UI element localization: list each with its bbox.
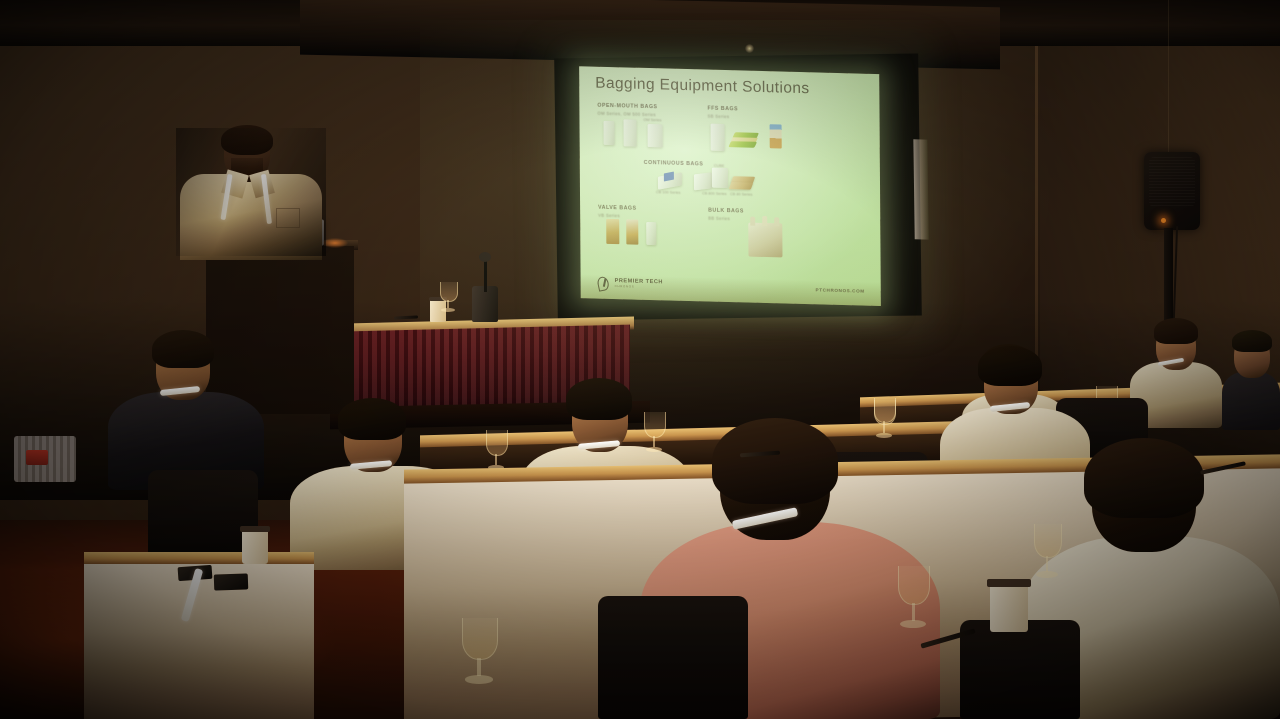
microphone-stand (484, 258, 487, 292)
presenter (176, 128, 326, 256)
section-heading: VALVE BAGS (598, 205, 637, 212)
audience-torso (1222, 372, 1280, 430)
wine-glass (462, 618, 496, 684)
glass-bowl (898, 566, 930, 605)
audience-member (108, 330, 264, 490)
projection-screen: Bagging Equipment Solutions OPEN-MOUTH B… (554, 53, 922, 320)
product-caption: CUBE (714, 164, 725, 168)
product-bag-valve-3 (646, 222, 656, 245)
glass-bowl (486, 430, 508, 456)
audience-hair (1232, 330, 1272, 352)
product-bag-kraft-2 (729, 182, 754, 190)
audience-hair (566, 378, 632, 420)
audience-hair (338, 398, 406, 440)
product-bag-valve-1 (606, 219, 619, 244)
section-subheading: SB Series (707, 114, 738, 120)
section-subheading: OM Series, OM 500 Series (597, 111, 657, 118)
speaker-grille-icon (1149, 157, 1195, 207)
product-caption: CB 80 Series (730, 192, 752, 197)
glass-bowl (462, 618, 498, 660)
screen-fold-crease (913, 139, 928, 239)
flight-case-label (26, 450, 48, 465)
glass-stem (477, 658, 480, 676)
product-bag-openmouth-2 (623, 119, 636, 146)
wine-glass (1034, 524, 1060, 578)
bulk-bag-loop-2 (762, 216, 767, 226)
slide-section-open-mouth-bags: OPEN-MOUTH BAGS OM Series, OM 500 Series (597, 103, 657, 118)
product-bag-valve-2 (626, 219, 638, 244)
slide-section-ffs-bags: FFS BAGS SB Series (707, 106, 738, 120)
ceiling-light-icon (745, 44, 754, 53)
product-bag-stack-green-2 (728, 141, 757, 148)
audience-hair (152, 330, 214, 368)
audience-hair (1084, 438, 1204, 518)
coffee-cup (990, 584, 1028, 632)
side-table-surface (84, 552, 314, 564)
product-bag-openmouth-3 (648, 124, 663, 147)
section-heading: FFS BAGS (707, 106, 738, 113)
glass-foot (441, 308, 454, 312)
product-bag-continuous-2 (694, 172, 712, 190)
glass-foot (465, 675, 494, 684)
slide-section-continuous-bags: CONTINUOUS BAGS (644, 160, 704, 168)
section-subheading: VB Series (598, 213, 637, 219)
audience-hair (712, 418, 838, 504)
wine-glass (440, 282, 456, 312)
slide-section-valve-bags: VALVE BAGS VB Series (598, 205, 637, 219)
coffee-cup-lid (240, 526, 270, 532)
glass-foot (1036, 571, 1058, 578)
product-caption: CB 800 Series (702, 191, 727, 196)
product-caption: OM Series (643, 118, 661, 122)
coffee-cup-lid (987, 579, 1031, 587)
glass-stem (1046, 556, 1049, 571)
presenter-shading (176, 128, 326, 256)
section-heading: BULK BAGS (708, 208, 744, 215)
audience-hair (978, 346, 1042, 386)
speaker-suspension-wire (1168, 0, 1169, 160)
section-heading: OPEN-MOUTH BAGS (597, 103, 657, 111)
glass-stem (912, 603, 915, 620)
section-heading: CONTINUOUS BAGS (644, 160, 704, 168)
glass-bowl (440, 282, 458, 302)
product-bag-ffs-1 (711, 124, 725, 151)
slide-section-bulk-bags: BULK BAGS BB Series (708, 208, 744, 222)
bulk-bag-loop-3 (774, 217, 779, 226)
chair-back (960, 620, 1080, 719)
section-subheading: BB Series (708, 216, 744, 222)
bulk-bag-loop-1 (750, 217, 755, 226)
chair-back (598, 596, 748, 719)
audience-member (1222, 330, 1280, 430)
product-bag-openmouth-1 (603, 121, 614, 145)
slide-title: Bagging Equipment Solutions (595, 75, 809, 99)
conference-room-photo: Bagging Equipment Solutions OPEN-MOUTH B… (0, 0, 1280, 719)
glass-stem (495, 454, 497, 465)
projected-slide: Bagging Equipment Solutions OPEN-MOUTH B… (579, 66, 881, 306)
glass-foot (900, 620, 925, 628)
product-bag-continuous-3 (712, 168, 728, 188)
product-bag-printed (770, 124, 782, 148)
wine-glass (898, 566, 928, 628)
product-caption: CB 100 Series (656, 190, 681, 195)
product-bag-bulk (748, 223, 782, 258)
microphone-head-icon (479, 252, 491, 262)
smartphone (214, 573, 249, 590)
audience-hair (1154, 318, 1198, 344)
screen-bottom-shadow (581, 274, 881, 306)
coffee-cup (242, 530, 268, 564)
glass-bowl (1034, 524, 1062, 558)
pa-speaker (1144, 152, 1200, 230)
wine-glass (486, 430, 506, 470)
power-led-icon (1161, 218, 1166, 223)
